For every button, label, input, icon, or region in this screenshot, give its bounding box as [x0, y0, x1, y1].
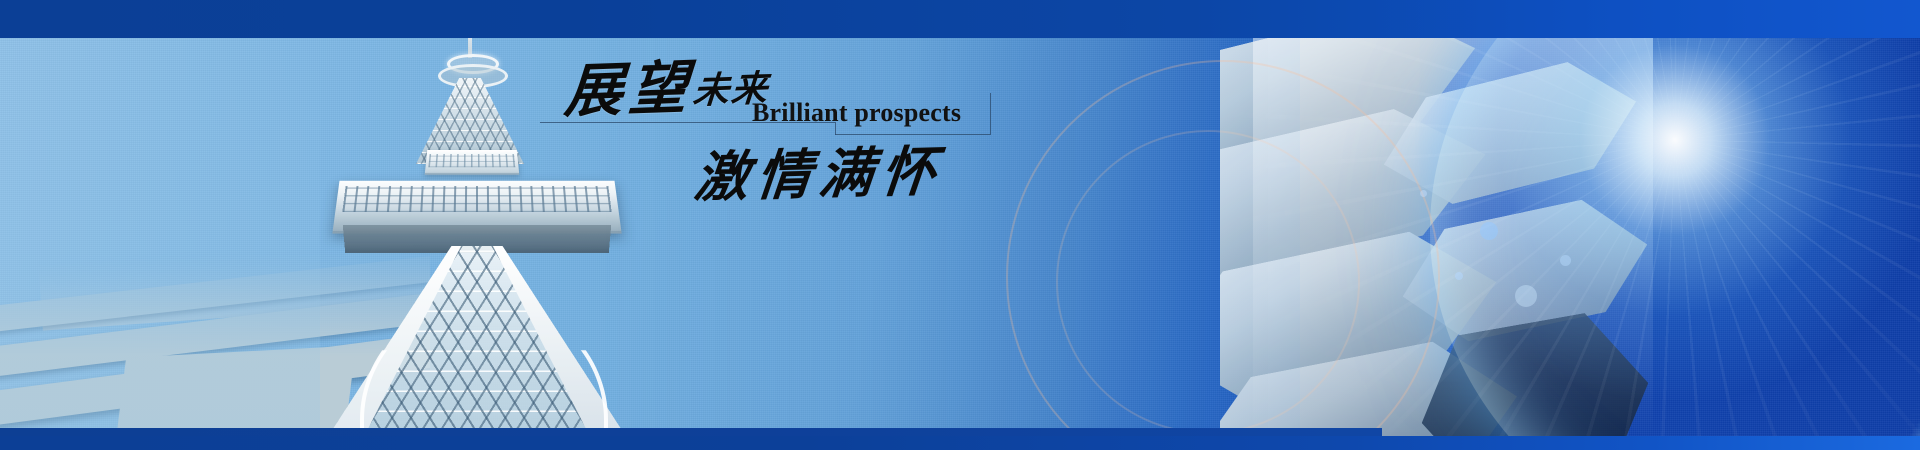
calligraphy-line-2: 激情满怀 [692, 145, 946, 205]
calligraphy-line-1: 展望未来 [563, 56, 772, 121]
english-tagline: Brilliant prospects [752, 98, 961, 128]
globe-rim-light [1430, 0, 1920, 450]
divider-line-lower [835, 134, 990, 135]
divider-line-upper [540, 122, 835, 123]
bottom-bar [0, 436, 1920, 450]
calligraphy-line-1-main: 展望 [562, 55, 695, 124]
tower-special-observatory-windows [428, 154, 515, 167]
divider-line-vertical [990, 93, 991, 135]
promotional-banner: 展望未来 Brilliant prospects 激情满怀 [0, 0, 1920, 450]
top-bar [0, 0, 1920, 38]
headline-block: 展望未来 Brilliant prospects 激情满怀 [530, 50, 1050, 240]
